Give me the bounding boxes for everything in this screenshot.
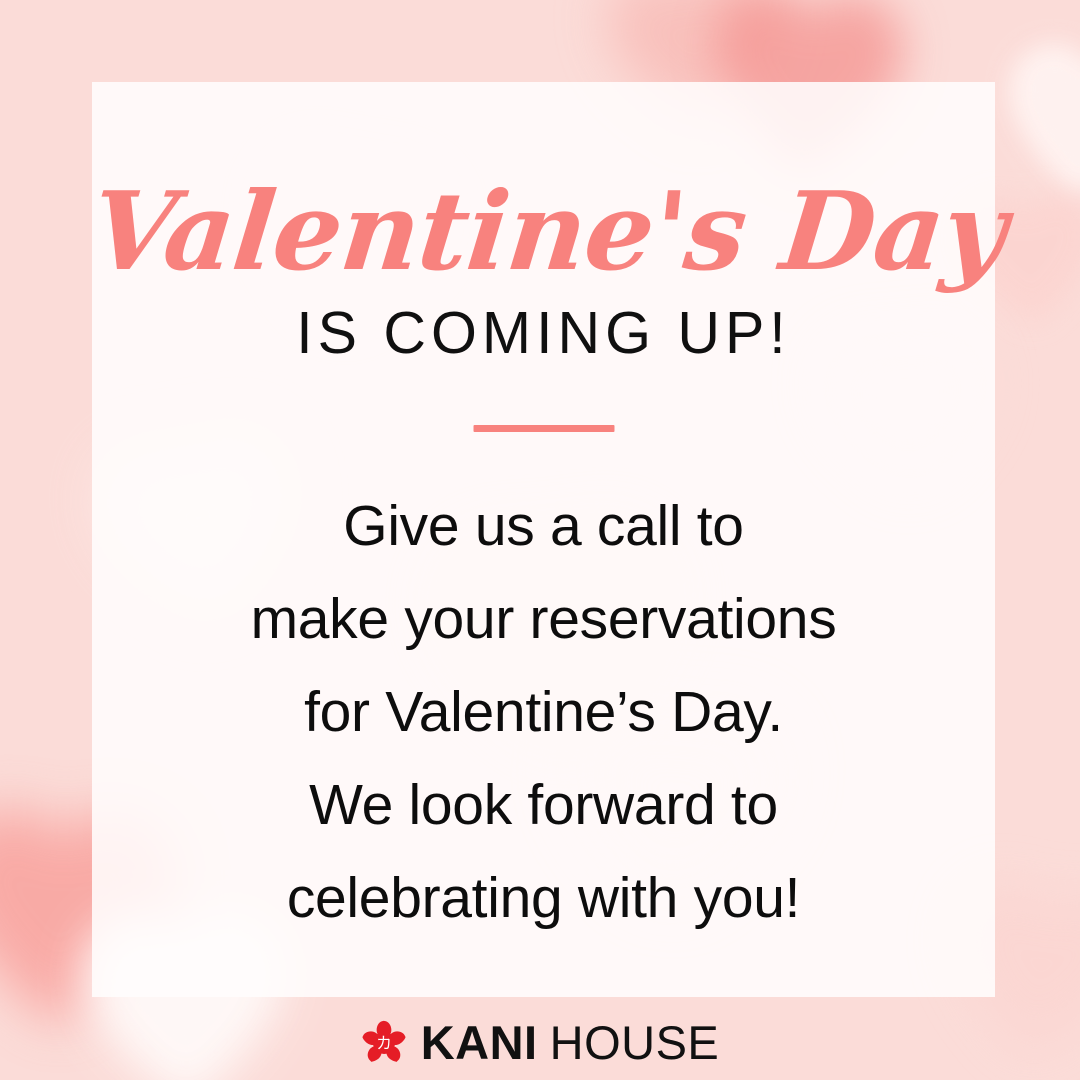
- body-line: for Valentine’s Day.: [92, 666, 995, 759]
- svg-text:カ: カ: [376, 1033, 392, 1052]
- body-line: make your reservations: [92, 573, 995, 666]
- body-line: celebrating with you!: [92, 852, 995, 945]
- body-line: We look forward to: [92, 759, 995, 852]
- cherry-blossom-icon: カ: [361, 1019, 407, 1065]
- social-post-canvas: Valentine's Day IS COMING UP! Give us a …: [0, 0, 1080, 1080]
- headline-subtitle: IS COMING UP!: [92, 304, 995, 363]
- brand-logo: カ KANI HOUSE: [0, 1012, 1080, 1072]
- headline-script: Valentine's Day: [86, 178, 1000, 286]
- content-panel: Valentine's Day IS COMING UP! Give us a …: [92, 82, 995, 997]
- body-copy: Give us a call to make your reservations…: [92, 480, 995, 945]
- accent-divider: [473, 425, 614, 432]
- body-line: Give us a call to: [92, 480, 995, 573]
- brand-name-kani: KANI: [421, 1019, 538, 1066]
- brand-name-house: HOUSE: [550, 1019, 720, 1066]
- brand-wordmark: KANI HOUSE: [421, 1019, 720, 1066]
